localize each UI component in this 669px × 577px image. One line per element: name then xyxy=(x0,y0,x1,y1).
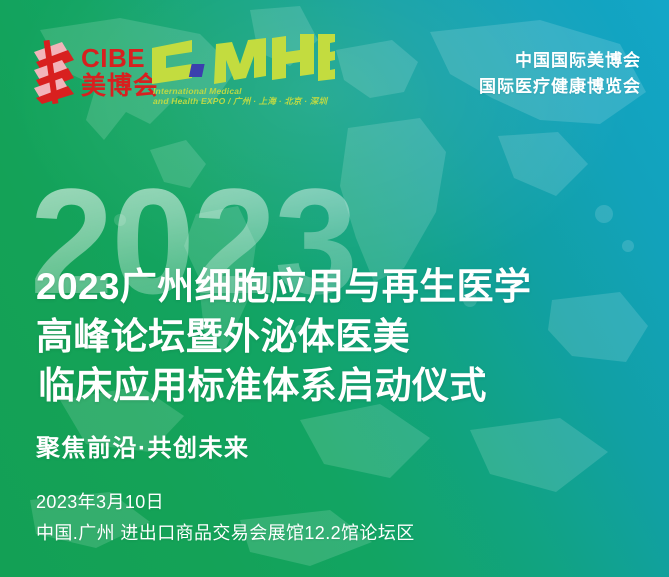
cmhe-logo: International Medical and Health EXPO / … xyxy=(150,34,335,107)
organiser-name-line2: 国际医疗健康博览会 xyxy=(479,74,641,100)
event-tagline: 聚焦前沿·共创未来 xyxy=(36,428,250,463)
event-title-line3: 临床应用标准体系启动仪式 xyxy=(36,361,531,411)
event-info: 2023年3月10日 中国.广州 进出口商品交易会展馆12.2馆论坛区 xyxy=(36,487,415,548)
cibe-chinese-text: 美博会 xyxy=(81,74,159,99)
cibe-wordmark: CIBE 美博会 xyxy=(81,45,159,99)
organiser-names: 中国国际美博会 国际医疗健康博览会 xyxy=(479,48,641,101)
event-venue: 中国.广州 进出口商品交易会展馆12.2馆论坛区 xyxy=(36,518,415,549)
event-title: 2023广州细胞应用与再生医学 高峰论坛暨外泌体医美 临床应用标准体系启动仪式 xyxy=(36,262,531,411)
cmhe-subtitle-line2: and Health EXPO / 广州 · 上海 · 北京 · 深圳 xyxy=(153,97,335,107)
organiser-name-line1: 中国国际美博会 xyxy=(479,48,641,74)
cibe-logo: CIBE 美博会 xyxy=(28,40,159,104)
cibe-zigzag-mark-icon xyxy=(28,40,74,104)
cmhe-wordmark-icon xyxy=(150,34,335,86)
event-date: 2023年3月10日 xyxy=(36,487,415,518)
cibe-english-text: CIBE xyxy=(81,45,159,71)
event-title-line1: 2023广州细胞应用与再生医学 xyxy=(36,262,531,312)
event-title-line2: 高峰论坛暨外泌体医美 xyxy=(36,312,531,362)
poster-header: CIBE 美博会 Internationa xyxy=(0,0,669,124)
event-poster: CIBE 美博会 Internationa xyxy=(0,0,669,577)
